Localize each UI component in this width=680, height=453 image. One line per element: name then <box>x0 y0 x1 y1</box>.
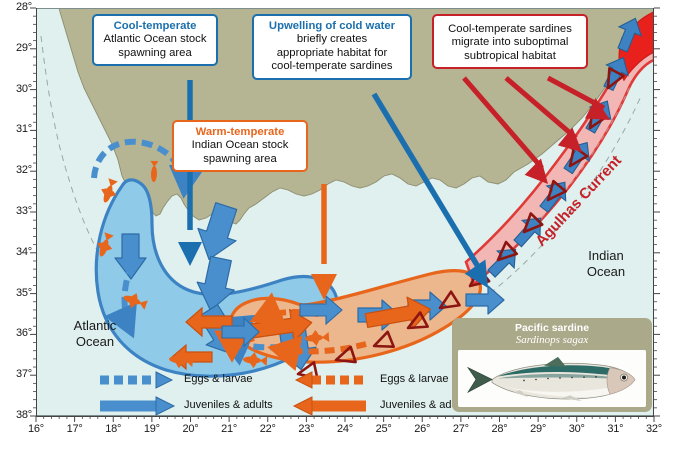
y-tick-label: 31° <box>2 123 32 135</box>
x-tick-label: 20° <box>180 423 202 435</box>
y-tick-label: 28° <box>2 1 32 13</box>
axis-ticks <box>0 0 680 453</box>
y-tick-label: 29° <box>2 42 32 54</box>
x-tick-label: 23° <box>295 423 317 435</box>
x-tick-label: 28° <box>489 423 511 435</box>
x-tick-label: 32° <box>643 423 665 435</box>
x-tick-label: 19° <box>141 423 163 435</box>
x-tick-label: 24° <box>334 423 356 435</box>
x-tick-label: 25° <box>373 423 395 435</box>
x-tick-label: 27° <box>450 423 472 435</box>
x-tick-label: 30° <box>566 423 588 435</box>
y-tick-label: 35° <box>2 287 32 299</box>
y-tick-label: 34° <box>2 246 32 258</box>
y-tick-label: 37° <box>2 368 32 380</box>
x-tick-label: 21° <box>218 423 240 435</box>
y-tick-label: 30° <box>2 83 32 95</box>
x-tick-label: 29° <box>527 423 549 435</box>
y-tick-label: 38° <box>2 409 32 421</box>
y-tick-label: 32° <box>2 164 32 176</box>
x-tick-label: 17° <box>64 423 86 435</box>
y-tick-label: 36° <box>2 327 32 339</box>
x-tick-label: 22° <box>257 423 279 435</box>
x-tick-label: 16° <box>25 423 47 435</box>
y-tick-label: 33° <box>2 205 32 217</box>
x-tick-label: 18° <box>102 423 124 435</box>
x-tick-label: 31° <box>604 423 626 435</box>
figure-root: Agulhas Current Atlantic Ocean Indian Oc… <box>0 0 680 453</box>
x-tick-label: 26° <box>411 423 433 435</box>
